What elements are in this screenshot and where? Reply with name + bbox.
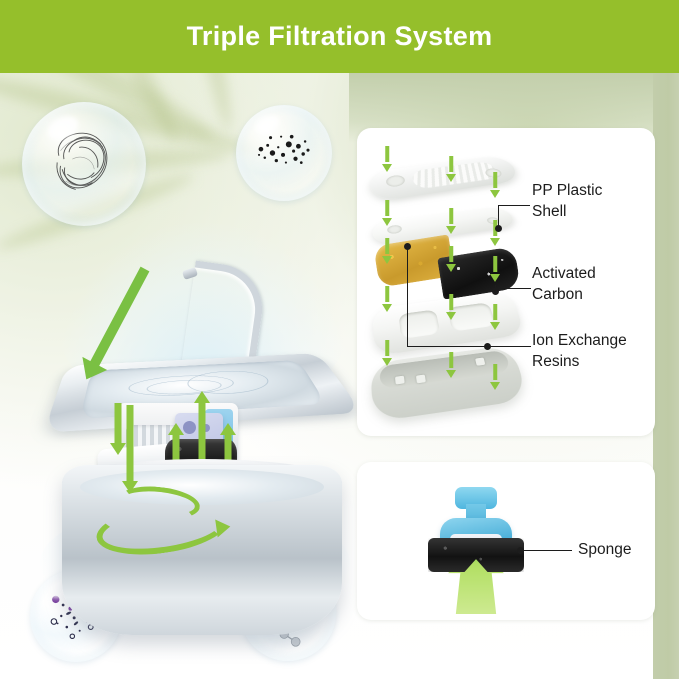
hair-clump-icon (42, 122, 126, 206)
leader-line-activated-carbon (495, 288, 531, 289)
header-banner: Triple Filtration System (0, 0, 679, 73)
label-sponge: Sponge (578, 539, 631, 560)
exploded-filter-card (357, 128, 655, 436)
label-ion-exchange-resins: Ion Exchange Resins (532, 330, 627, 372)
flow-arrow-down (489, 256, 501, 282)
label-pp-plastic-shell: PP Plastic Shell (532, 180, 602, 222)
leader-line-resin-callout (407, 346, 487, 347)
leader-line-pp-shell (498, 205, 530, 206)
basin-clip (475, 357, 485, 365)
tray-slot (399, 309, 441, 339)
flow-arrow-down (381, 146, 393, 172)
flow-arrow-down (489, 172, 501, 198)
flow-arrow-down (381, 200, 393, 226)
flow-arrow-down (489, 364, 501, 390)
leader-line-ion-exchange (487, 346, 531, 347)
flow-arrow-down (381, 238, 393, 264)
dirt-debris-bubble (236, 105, 332, 201)
hair-contaminant-bubble (22, 102, 146, 226)
page-title: Triple Filtration System (187, 21, 493, 52)
hair-strands-svg (42, 122, 126, 206)
infographic-page: Triple Filtration System (0, 0, 679, 679)
flow-arrow-down (381, 286, 393, 312)
debris-particles-svg (236, 105, 332, 201)
label-activated-carbon: Activated Carbon (532, 263, 596, 305)
leader-line-resin-callout (407, 246, 408, 346)
sage-background-band (653, 73, 679, 679)
lid-hole (385, 175, 405, 188)
flow-arrow-down (445, 208, 457, 234)
leader-line-sponge (520, 550, 572, 551)
flow-arrow-down-into-basin (122, 405, 138, 493)
flow-arrow-down (445, 294, 457, 320)
flow-arrow-down (445, 246, 457, 272)
flow-arrow-down (381, 340, 393, 366)
basin-clip (395, 375, 405, 384)
flow-arrow-down (445, 352, 457, 378)
flow-arrow-down (445, 156, 457, 182)
flow-arrow-up (193, 391, 211, 461)
leader-line-pp-shell (498, 205, 499, 227)
flow-arrow-down (489, 304, 501, 330)
plate-hole (387, 225, 403, 235)
basin-water-surface (80, 469, 324, 505)
leader-dot-resin-source (404, 243, 411, 250)
